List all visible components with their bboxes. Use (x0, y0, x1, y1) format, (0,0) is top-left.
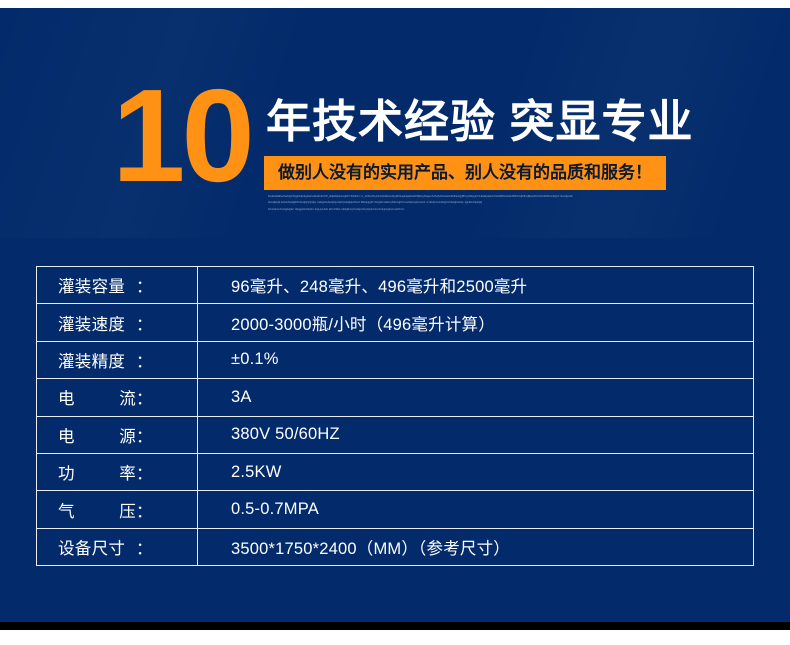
spec-key-cell: 灌装精度： (37, 341, 198, 378)
spec-value-cell: 3500*1750*2400（MM）（参考尺寸） (198, 528, 754, 565)
spec-key-colon: ： (136, 385, 153, 409)
spec-key-colon: ： (136, 460, 153, 484)
spec-key-label: 灌装精度 (58, 348, 136, 372)
spec-key-colon: ： (136, 311, 153, 335)
table-row: 设备尺寸：3500*1750*2400（MM）（参考尺寸） (37, 528, 754, 565)
spec-key-label: 电源 (58, 423, 136, 447)
spec-key-cell: 电流： (37, 379, 198, 416)
spec-key-label: 灌装速度 (58, 311, 136, 335)
hero-navy-panel: 10 年技术经验 突显专业 做别人没有的实用产品、别人没有的品质和服务！ Dwb… (0, 8, 790, 622)
table-row: 功率：2.5KW (37, 453, 754, 490)
spec-key-cell: 电源： (37, 416, 198, 453)
page-root: 10 年技术经验 突显专业 做别人没有的实用产品、别人没有的品质和服务！ Dwb… (0, 0, 790, 645)
table-row: 灌装速度：2000-3000瓶/小时（496毫升计算） (37, 304, 754, 341)
spec-key-cell: 气压： (37, 491, 198, 528)
spec-value-cell: 2000-3000瓶/小时（496毫升计算） (198, 304, 754, 341)
spec-key-colon: ： (136, 273, 153, 297)
table-row: 电源：380V 50/60HZ (37, 416, 754, 453)
hero-title: 年技术经验 突显专业 (266, 96, 694, 148)
micro-text-line-3: lsh.kwkvrvhvAjrjkqjkvr lAjrjgjukivbkwhv … (268, 207, 530, 213)
spec-key-cell: 灌装容量： (37, 267, 198, 304)
spec-key-cell: 灌装速度： (37, 304, 198, 341)
spec-value-cell: 0.5-0.7MPA (198, 491, 754, 528)
spec-key-label: 气压 (58, 498, 136, 522)
spec-value-cell: 2.5KW (198, 453, 754, 490)
spec-key-cell: 功率： (37, 453, 198, 490)
spec-value-cell: ±0.1% (198, 341, 754, 378)
table-row: 灌装容量：96毫升、248毫升、496毫升和2500毫升 (37, 267, 754, 304)
hero-subtitle-text: 做别人没有的实用产品、别人没有的品质和服务！ (278, 163, 652, 183)
decorative-micro-text: Dwbbdddkwchwklgh4hjgkk4jhdgkiwhwldwkh4hO… (268, 194, 686, 216)
table-row: 灌装精度：±0.1% (37, 341, 754, 378)
spec-key-label: 灌装容量 (58, 273, 136, 297)
years-big-number: 10 (112, 70, 251, 202)
spec-value-cell: 380V 50/60HZ (198, 416, 754, 453)
bottom-white-margin (0, 630, 790, 645)
hero-subtitle-banner: 做别人没有的实用产品、别人没有的品质和服务！ (264, 156, 666, 190)
table-row: 电流：3A (37, 379, 754, 416)
spec-key-label: 电流 (58, 385, 136, 409)
specification-table: 灌装容量：96毫升、248毫升、496毫升和2500毫升灌装速度：2000-30… (36, 266, 754, 566)
bottom-black-rule (0, 622, 790, 630)
spec-key-colon: ： (136, 348, 153, 372)
spec-value-cell: 3A (198, 379, 754, 416)
spec-key-colon: ： (136, 498, 153, 522)
table-row: 气压：0.5-0.7MPA (37, 491, 754, 528)
top-white-margin (0, 0, 790, 8)
micro-text-line-2: bkwHjHjdj 4wAwhlwdjjdhh4uAjHjrjCjCjkv vw… (268, 200, 686, 206)
spec-key-label: 设备尺寸 (58, 535, 136, 559)
spec-key-colon: ： (136, 423, 153, 447)
spec-value-cell: 96毫升、248毫升、496毫升和2500毫升 (198, 267, 754, 304)
spec-key-colon: ： (136, 535, 153, 559)
spec-key-label: 功率 (58, 460, 136, 484)
spec-key-cell: 设备尺寸： (37, 528, 198, 565)
specification-table-body: 灌装容量：96毫升、248毫升、496毫升和2500毫升灌装速度：2000-30… (37, 267, 754, 566)
